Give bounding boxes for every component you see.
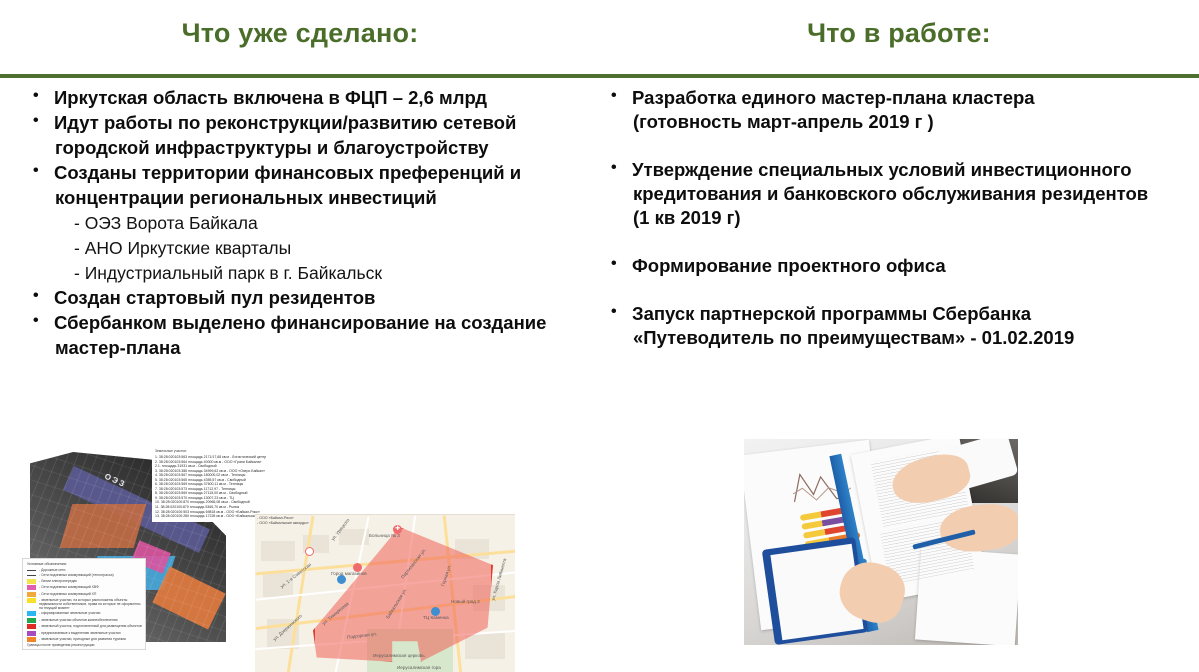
legend-row: - земельный участок, подготовленный для … [27,624,142,629]
list-item: Создан стартовый пул резидентов [22,286,600,310]
legend-label: - земельный участок, подготовленный для … [39,624,142,628]
legend-swatch [27,631,36,636]
zone-band-orange [60,504,147,548]
legend-row: - земельные участки, пригодные для разви… [27,637,142,642]
right-bullet-list: Разработка единого мастер-плана кластера… [600,86,1195,350]
bullet-continuation: кредитования и банковского обслуживания … [600,182,1195,206]
legend-swatch [27,598,36,603]
street-map-image: ✚ - ООО «Байкал-Риск» - ООО «Байкальские… [255,514,515,672]
list-item: Идут работы по реконструкции/развитию се… [22,111,600,135]
place-label-hospital: Больница № 3 [369,533,400,538]
list-item: Иркутская область включена в ФЦП – 2,6 м… [22,86,600,110]
legend-row: - Сети подземных коммуникаций (теплотрас… [27,573,142,577]
business-photo-image [744,439,1018,645]
page-title-left: Что уже сделано: [0,18,600,49]
legend-label: - Сети подземных коммуникаций ХВФ [39,585,99,589]
legend-row: - земельные участки, на которых располож… [27,598,142,610]
list-item: Утверждение специальных условий инвестиц… [600,158,1195,182]
bullet-continuation: (1 кв 2019 г) [600,206,1195,230]
bullet-continuation: мастер-плана [22,336,600,360]
header-divider [0,74,1199,78]
list-spacer [600,134,1195,158]
legend-row: - земельные участки объектов жизнеобеспе… [27,618,142,623]
legend-label: - сформированные земельные участки [39,611,100,615]
legend-row: - сформированные земельные участки [27,611,142,616]
legend-label: - Дорожные сети [39,568,65,572]
list-item: Созданы территории финансовых преференци… [22,161,600,185]
legend-label: - Сети подземных коммуникаций (теплотрас… [39,573,114,577]
place-label-tc: ТЦ Каменка [423,615,449,620]
legend-row: - Дорожные сети [27,568,142,572]
list-item: Разработка единого мастер-плана кластера [600,86,1195,110]
bullet-continuation: «Путеводитель по преимуществам» - 01.02.… [600,326,1195,350]
left-content-column: Иркутская область включена в ФЦП – 2,6 м… [22,86,600,361]
bullet-continuation: городской инфраструктуры и благоустройст… [22,136,600,160]
bullet-continuation: (готовность март-апрель 2019 г ) [600,110,1195,134]
slide-root: Что уже сделано: Что в работе: Иркутская… [0,0,1199,672]
legend-label: - земельные участки, пригодные для разви… [39,637,126,641]
legend-swatch [27,637,36,642]
parcel-list-title: Земельные участки: [155,449,282,453]
legend-swatch [27,579,36,584]
sub-list-item: - АНО Иркутские кварталы [22,236,600,261]
map-legend-panel: Условные обозначения: - Дорожные сети- С… [22,558,146,650]
legend-swatch [27,618,36,623]
legend-swatch [27,611,36,616]
list-item: Формирование проектного офиса [600,254,1195,278]
legend-title: Условные обозначения: [27,562,142,566]
place-label-gorod: Город магазинов [331,571,367,576]
map-pin-poi [305,547,314,556]
legend-swatch [27,585,36,590]
legend-swatch [27,624,36,629]
map-top-notes: - ООО «Байкал-Риск» - ООО «Байкальские а… [257,516,309,526]
legend-label: - предполагаемые к выделению земельные у… [39,631,121,635]
legend-row: - Сети подземных коммуникаций ХВФ [27,585,142,590]
parcel-row: 1. 38:28:020103:563 площадь 2171/17,68 к… [155,455,282,460]
legend-row: - Сети подземных коммуникаций ХП [27,592,142,597]
sub-list-item: - ОЭЗ Ворота Байкала [22,211,600,236]
legend-label: - земельные участки, на которых располож… [39,598,142,610]
list-spacer [600,278,1195,302]
legend-label: - земельные участки объектов жизнеобеспе… [39,618,117,622]
oez-label: ОЭЗ [103,472,128,490]
legend-row: - Линии электропередач [27,579,142,584]
legend-footnote: Границы после проведения реконструкции [27,643,142,647]
legend-swatch [27,575,36,576]
list-item: Запуск партнерской программы Сбербанка [600,302,1195,326]
place-label-church: Иерусалимская церковь [373,653,425,658]
left-bullet-list: Иркутская область включена в ФЦП – 2,6 м… [22,86,600,360]
zone-band-amber [152,566,225,629]
page-title-right: Что в работе: [599,18,1199,49]
zoning-plan-image: ОЭЗ Земельные участки: 1. 38:28:020103:5… [14,440,284,655]
map-pin-shop [337,575,346,584]
place-label-gora: Иерусалимская гора [397,665,441,670]
legend-row: - предполагаемые к выделению земельные у… [27,631,142,636]
parcel-list-panel: Земельные участки: 1. 38:28:020103:563 п… [152,446,284,522]
legend-label: - Линии электропередач [39,579,77,583]
right-content-column: Разработка единого мастер-плана кластера… [600,86,1195,350]
place-label-novygrad: Новый град 2 [451,599,480,604]
bullet-continuation: концентрации региональных инвестиций [22,186,600,210]
legend-swatch [27,570,36,571]
list-item: Сбербанком выделено финансирование на со… [22,311,600,335]
list-spacer [600,230,1195,254]
legend-swatch [27,592,36,597]
sub-list-item: - Индустриальный парк в г. Байкальск [22,261,600,286]
legend-label: - Сети подземных коммуникаций ХП [39,592,96,596]
